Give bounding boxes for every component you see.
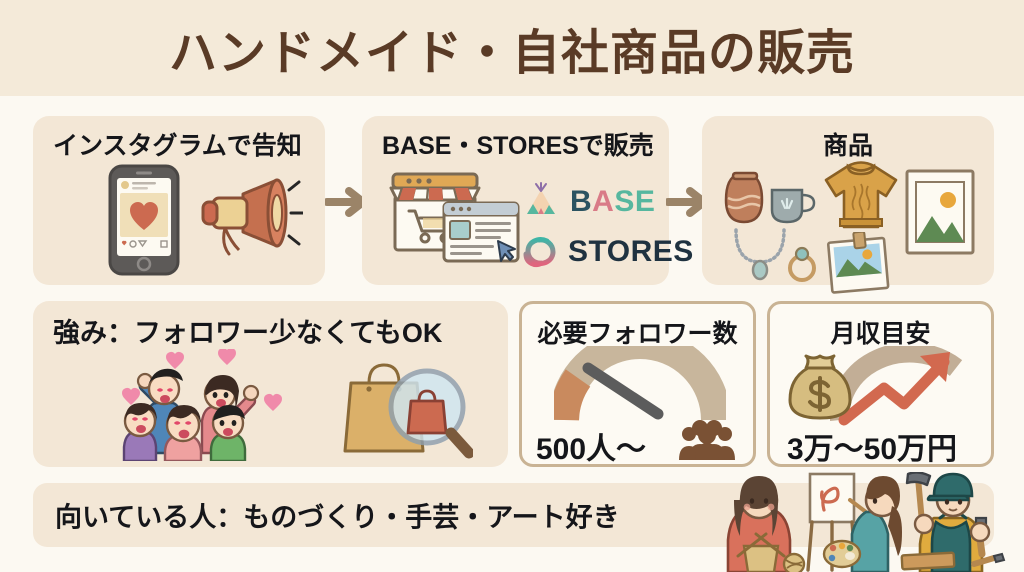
card-followers-title: 必要フォロワー数 [522, 314, 753, 350]
followers-value: 500人〜 [536, 424, 646, 468]
card-shops-title: BASE・STORESで販売 [362, 126, 689, 162]
card-products-title: 商品 [702, 126, 994, 162]
browser-window-icon [442, 201, 520, 263]
smartphone-instagram-post-icon [108, 164, 180, 276]
happy-fans-group-icon [115, 349, 303, 461]
stores-logo-icon: STORES [520, 232, 694, 272]
money-bag-icon [784, 352, 856, 424]
shopping-bag-magnifier-icon [333, 353, 473, 461]
page-title-band: ハンドメイド・自社商品の販売 [0, 0, 1024, 96]
card-income-title: 月収目安 [770, 314, 991, 350]
pottery-vase-icon [720, 164, 825, 230]
infographic-page: ハンドメイド・自社商品の販売 インスタグラムで告知 [0, 0, 1024, 572]
card-strength: 強み：フォロワー少なくてもOK [33, 301, 508, 467]
people-group-icon [678, 418, 736, 460]
stores-logo-text: STORES [568, 235, 694, 269]
base-logo-text: BASE [570, 185, 655, 219]
painter-easel-icon [804, 472, 912, 572]
stores-swirl-icon [520, 232, 560, 272]
card-instagram-announce: インスタグラムで告知 [33, 116, 325, 285]
gauge-icon [554, 346, 726, 424]
page-title: ハンドメイド・自社商品の販売 [169, 13, 855, 83]
card-strength-title: 強み：フォロワー少なくてもOK [33, 311, 528, 350]
knitting-woman-icon [714, 476, 810, 572]
audience-text: 向いている人：ものづくり・手芸・アート好き [55, 496, 620, 535]
necklace-icon [724, 226, 824, 284]
base-tent-icon [520, 182, 562, 222]
card-products: 商品 [702, 116, 994, 285]
card-instagram-title: インスタグラムで告知 [33, 126, 345, 162]
sweater-icon [818, 158, 904, 232]
polaroid-photo-icon [826, 232, 896, 294]
income-value: 3万〜50万円 [787, 424, 957, 468]
megaphone-icon [195, 176, 303, 268]
framed-art-icon [904, 168, 976, 256]
carpenter-hammer-icon [900, 472, 1012, 572]
base-logo-icon: BASE [520, 182, 655, 222]
